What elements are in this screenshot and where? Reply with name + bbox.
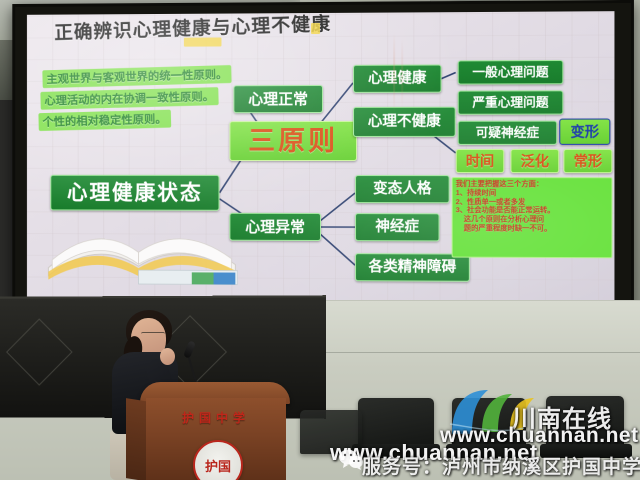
tag-time: 时间: [456, 149, 505, 173]
screen-artifact: [393, 33, 395, 113]
principle-item: 个性的相对稳定性原则。: [38, 110, 170, 131]
summary-note: 题的严重程度时缺一不可。: [456, 224, 609, 233]
watermark-caption: 服务号：泸州市纳溪区护国中学: [362, 452, 640, 479]
panel-ornament: [6, 318, 73, 385]
tag-generalization: 泛化: [510, 149, 559, 173]
projector-screen-frame: 正确辨识心理健康与心理不健康 主观世界与客观世界的统一性原则。 心理活动的内在协…: [12, 0, 634, 315]
node-deformation: 变形: [559, 119, 610, 145]
node-psychologically-abnormal: 心理异常: [229, 213, 321, 241]
speaker-hand: [160, 348, 175, 365]
open-book-illustration: [44, 208, 241, 286]
node-suspected-neurosis: 可疑神经症: [458, 121, 558, 145]
node-mental-health: 心理健康: [353, 65, 442, 93]
node-psychologically-normal: 心理正常: [233, 85, 323, 113]
lecture-hall-photo: 正确辨识心理健康与心理不健康 主观世界与客观世界的统一性原则。 心理活动的内在协…: [0, 0, 640, 480]
projector-screen: 正确辨识心理健康与心理不健康 主观世界与客观世界的统一性原则。 心理活动的内在协…: [27, 11, 615, 303]
node-abnormal-personality: 变态人格: [355, 175, 450, 203]
node-general-issue: 一般心理问题: [458, 60, 564, 85]
wechat-icon: [338, 448, 364, 470]
tag-normal-form: 常形: [563, 149, 612, 173]
podium-label: 护国中学: [150, 409, 282, 426]
screen-artifact: [401, 39, 403, 109]
speaker-glasses: [141, 332, 165, 340]
node-serious-issue: 严重心理问题: [458, 90, 564, 114]
node-neurosis: 神经症: [355, 213, 439, 241]
node-three-principles: 三原则: [229, 121, 357, 161]
summary-block: 我们主要把握这三个方面： 1、持续时间 2、性质单一或者多发 3、社会功能是否能…: [452, 177, 613, 258]
node-mental-unhealthy: 心理不健康: [353, 107, 456, 137]
node-mental-health-state: 心理健康状态: [50, 175, 219, 211]
